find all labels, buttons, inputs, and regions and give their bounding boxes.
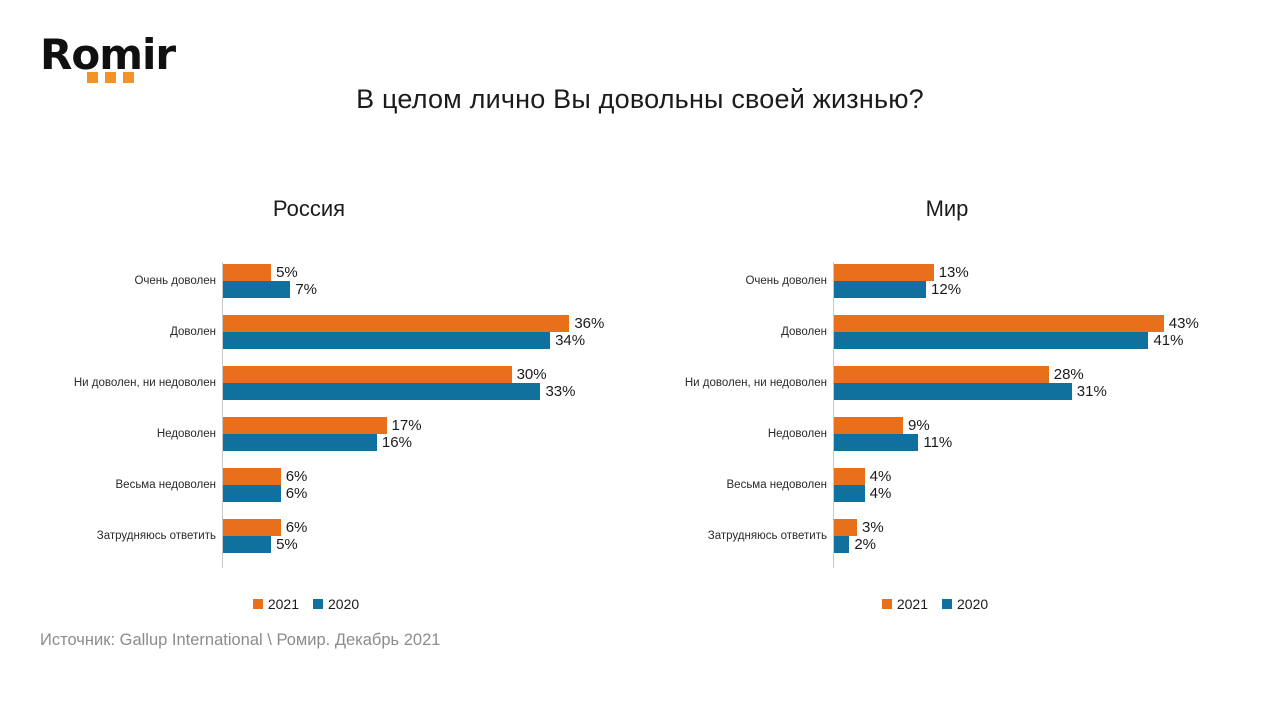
category-row: Недоволен17%16% [40,417,640,451]
legend-item-2021[interactable]: 2021 [253,596,299,612]
bar-group-2021: 17% [40,417,640,434]
bar-group-2021: 9% [650,417,1250,434]
bar-group-2020: 5% [40,536,640,553]
bar-2020[interactable] [834,332,1148,349]
logo-square-3 [123,72,134,83]
bar-value-label: 7% [290,281,317,298]
bar-value-label: 9% [903,417,930,434]
bar-group-2020: 4% [650,485,1250,502]
bar-group-2020: 41% [650,332,1250,349]
category-row: Доволен36%34% [40,315,640,349]
bar-2020[interactable] [223,485,281,502]
bar-2020[interactable] [834,281,926,298]
legend-swatch-icon [882,599,892,609]
legend-item-2021[interactable]: 2021 [882,596,928,612]
category-row: Весьма недоволен4%4% [650,468,1250,502]
bar-value-label: 31% [1072,383,1107,400]
category-row: Затрудняюсь ответить3%2% [650,519,1250,553]
bar-value-label: 12% [926,281,961,298]
bar-value-label: 11% [918,434,952,451]
bar-2021[interactable] [834,519,857,536]
bar-value-label: 17% [387,417,422,434]
bar-group-2020: 2% [650,536,1250,553]
bar-group-2021: 30% [40,366,640,383]
legend-label: 2020 [328,596,359,612]
bar-value-label: 6% [281,519,308,536]
bar-group-2020: 12% [650,281,1250,298]
bar-group-2021: 3% [650,519,1250,536]
bar-value-label: 30% [512,366,547,383]
bar-2020[interactable] [223,383,540,400]
bar-value-label: 28% [1049,366,1084,383]
bar-value-label: 5% [271,264,298,281]
bar-group-2021: 43% [650,315,1250,332]
bar-group-2020: 33% [40,383,640,400]
bar-value-label: 4% [865,485,892,502]
category-row: Очень доволен13%12% [650,264,1250,298]
bar-value-label: 36% [569,315,604,332]
bar-group-2020: 11% [650,434,1250,451]
bar-value-label: 4% [865,468,892,485]
bar-2020[interactable] [834,536,849,553]
bar-2021[interactable] [223,468,281,485]
bar-value-label: 34% [550,332,585,349]
legend-swatch-icon [253,599,263,609]
logo-squares-decoration [87,72,134,83]
legend-item-2020[interactable]: 2020 [942,596,988,612]
legend-item-2020[interactable]: 2020 [313,596,359,612]
category-row: Затрудняюсь ответить6%5% [40,519,640,553]
bar-group-2021: 4% [650,468,1250,485]
bar-2021[interactable] [834,417,903,434]
source-note: Источник: Gallup International \ Ромир. … [40,631,440,650]
bar-value-label: 6% [281,485,308,502]
bar-group-2021: 5% [40,264,640,281]
logo-square-2 [105,72,116,83]
bar-2021[interactable] [834,264,934,281]
bar-2020[interactable] [223,281,290,298]
bar-2020[interactable] [223,434,377,451]
bar-group-2021: 28% [650,366,1250,383]
bar-value-label: 2% [849,536,876,553]
bar-2020[interactable] [834,383,1072,400]
bar-group-2020: 6% [40,485,640,502]
bar-group-2021: 36% [40,315,640,332]
category-row: Весьма недоволен6%6% [40,468,640,502]
bar-value-label: 5% [271,536,298,553]
chart-russia: Россия Очень доволен5%7%Доволен36%34%Ни … [40,196,640,568]
bar-group-2020: 34% [40,332,640,349]
bar-group-2020: 7% [40,281,640,298]
legend-label: 2021 [268,596,299,612]
chart-russia-legend: 20212020 [222,596,390,612]
legend-swatch-icon [942,599,952,609]
bar-value-label: 43% [1164,315,1199,332]
bar-group-2020: 31% [650,383,1250,400]
bar-value-label: 41% [1148,332,1183,349]
bar-value-label: 33% [540,383,575,400]
bar-2020[interactable] [834,434,918,451]
legend-label: 2021 [897,596,928,612]
chart-world-title: Мир [650,196,1250,226]
category-row: Ни доволен, ни недоволен30%33% [40,366,640,400]
bar-group-2021: 13% [650,264,1250,281]
bar-2021[interactable] [223,417,387,434]
chart-world: Мир Очень доволен13%12%Доволен43%41%Ни д… [650,196,1250,568]
bar-2021[interactable] [834,366,1049,383]
bar-value-label: 6% [281,468,308,485]
bar-group-2021: 6% [40,468,640,485]
bar-2021[interactable] [223,315,569,332]
bar-value-label: 16% [377,434,412,451]
chart-world-plot: Очень доволен13%12%Доволен43%41%Ни довол… [650,262,1250,568]
category-row: Доволен43%41% [650,315,1250,349]
page-title: В целом лично Вы довольны своей жизнью? [0,84,1280,115]
bar-2020[interactable] [223,332,550,349]
bar-value-label: 3% [857,519,884,536]
logo-square-1 [87,72,98,83]
bar-group-2021: 6% [40,519,640,536]
bar-2021[interactable] [223,366,512,383]
category-row: Недоволен9%11% [650,417,1250,451]
bar-2020[interactable] [223,536,271,553]
category-row: Ни доволен, ни недоволен28%31% [650,366,1250,400]
bar-group-2020: 16% [40,434,640,451]
bar-2021[interactable] [223,264,271,281]
bar-2020[interactable] [834,485,865,502]
bar-2021[interactable] [834,468,865,485]
legend-swatch-icon [313,599,323,609]
bar-2021[interactable] [223,519,281,536]
legend-label: 2020 [957,596,988,612]
chart-world-legend: 20212020 [851,596,1019,612]
chart-russia-plot: Очень доволен5%7%Доволен36%34%Ни доволен… [40,262,640,568]
bar-2021[interactable] [834,315,1164,332]
category-row: Очень доволен5%7% [40,264,640,298]
chart-russia-title: Россия [40,196,640,226]
logo-wordmark: Romir [40,34,210,76]
bar-value-label: 13% [934,264,969,281]
